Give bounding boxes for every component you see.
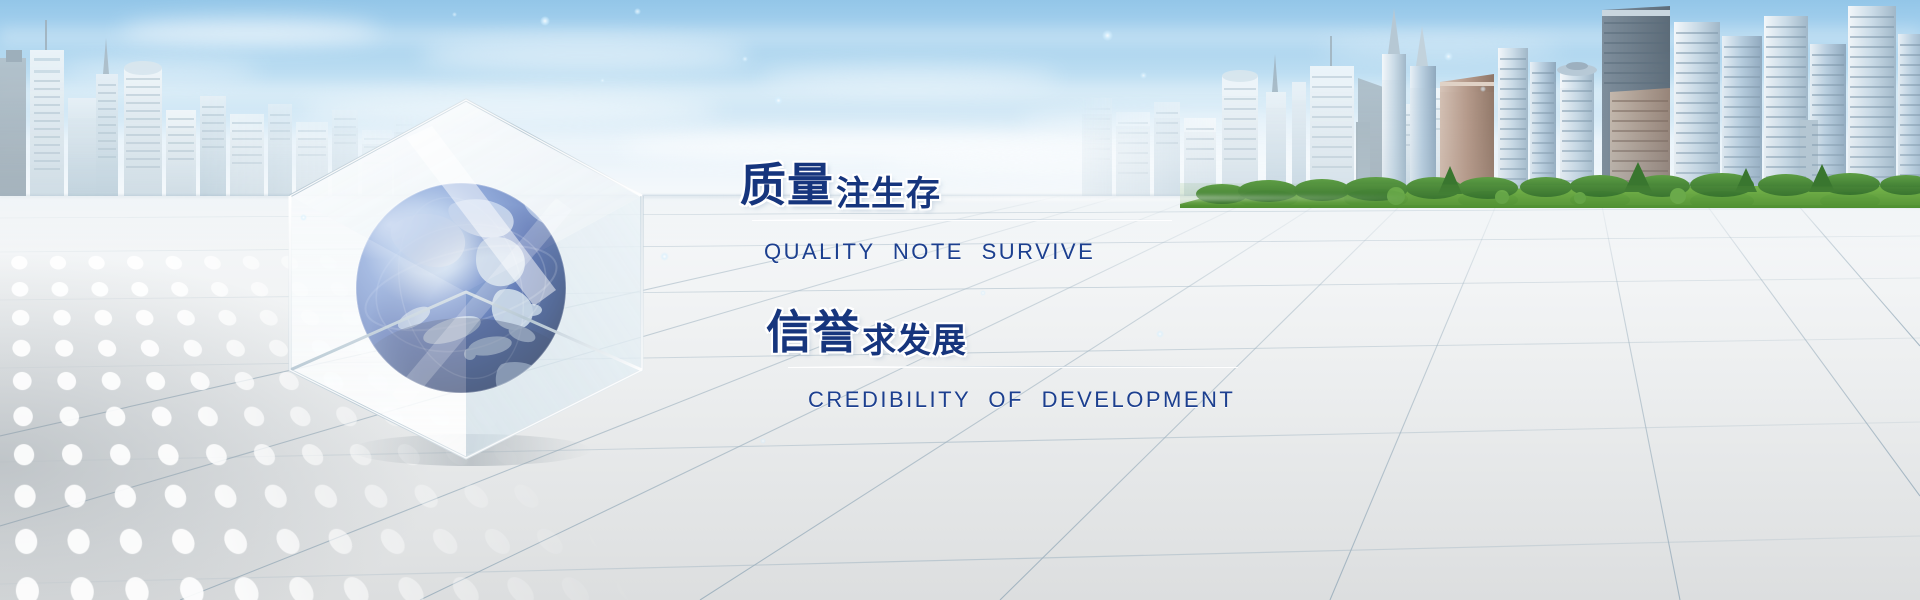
slogan-2: 信誉求发展 CREDIBILITY OF DEVELOPMENT — [728, 309, 1368, 413]
slogan-1-chinese-lead: 质量 — [740, 159, 834, 211]
slogan-2-chinese-lead: 信誉 — [766, 306, 860, 358]
slogan-2-english: CREDIBILITY OF DEVELOPMENT — [808, 387, 1368, 413]
slogan-2-chinese: 信誉求发展 — [766, 309, 1368, 355]
slogan-1-english: QUALITY NOTE SURVIVE — [764, 239, 1368, 265]
hero-banner: 质量注生存 QUALITY NOTE SURVIVE 信誉求发展 CREDIBI… — [0, 0, 1920, 600]
slogan-2-chinese-tail: 求发展 — [862, 322, 967, 360]
slogan-1-chinese: 质量注生存 — [740, 162, 1368, 208]
slogan-1-divider — [752, 219, 1172, 220]
slogan-1-chinese-tail: 注生存 — [836, 175, 941, 213]
crystal-globe-graphic — [256, 78, 676, 478]
slogan-1: 质量注生存 QUALITY NOTE SURVIVE — [728, 162, 1368, 265]
slogan-block: 质量注生存 QUALITY NOTE SURVIVE 信誉求发展 CREDIBI… — [728, 162, 1368, 413]
slogan-2-divider — [788, 366, 1238, 367]
